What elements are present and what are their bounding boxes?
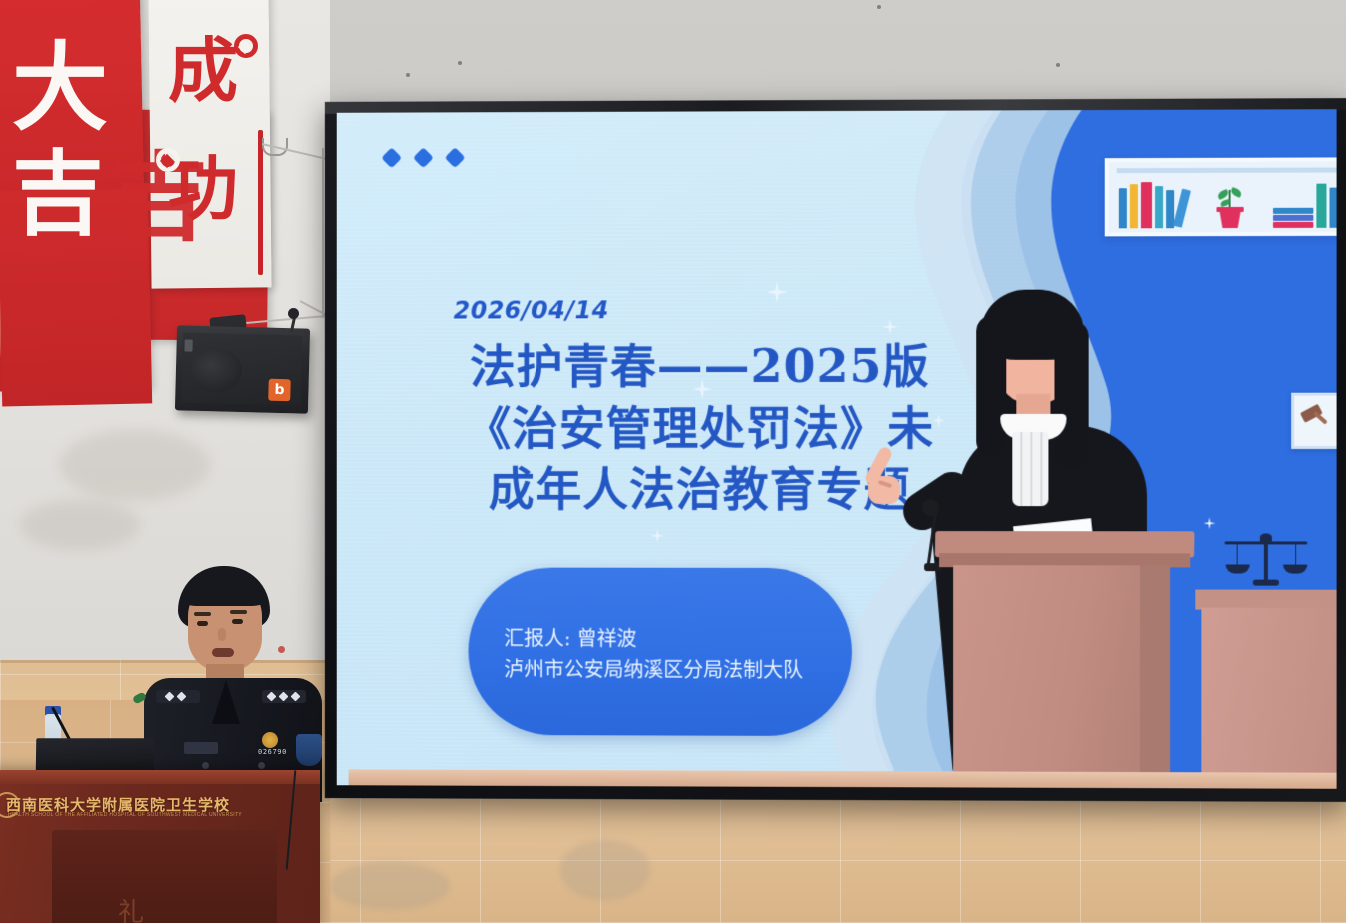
- speaker-knob-icon: [288, 308, 299, 319]
- lawyer-hair-side: [1054, 320, 1088, 470]
- scales-of-justice-icon: [1221, 531, 1312, 591]
- plant-leaf: [1230, 187, 1243, 198]
- speaker-led: [184, 339, 192, 351]
- book-icon-tilted: [1173, 189, 1191, 228]
- book-icon: [1273, 208, 1313, 214]
- potted-plant-icon: [1212, 182, 1246, 228]
- podium-body: [953, 565, 1168, 789]
- hand-fist: [868, 476, 900, 504]
- officer-hair-fringe: [182, 572, 266, 606]
- presenter-name-line: 汇报人: 曾祥波: [504, 623, 803, 655]
- illustration-floor: [349, 769, 1337, 788]
- officer-eyebrow: [230, 610, 247, 614]
- banner-char-cheng: 成: [168, 36, 238, 106]
- lectern-front-panel: [52, 830, 277, 923]
- wall-screw: [458, 61, 462, 65]
- slide-presenter-text: 汇报人: 曾祥波 泸州市公安局纳溪区分局法制大队: [504, 623, 803, 686]
- judge-bench: [1201, 608, 1336, 789]
- slide-date: 2026/04/14: [454, 296, 609, 324]
- illustration-bookshelf: [1105, 157, 1337, 236]
- book-icon: [1316, 184, 1326, 228]
- wall-speaker: b: [175, 325, 310, 413]
- ceiling-wire: [322, 148, 324, 318]
- scales-string: [1237, 544, 1238, 566]
- scales-pan: [1226, 564, 1250, 573]
- lectern-top-edge: [0, 770, 320, 784]
- wall-scuff: [560, 840, 650, 900]
- lawyer-hair-side: [976, 316, 1006, 456]
- stacked-books-icon: [1273, 206, 1313, 228]
- book-icon: [1141, 182, 1152, 228]
- officer-mouth: [212, 648, 234, 657]
- lectern-school-name-english: HEALTH SCHOOL OF THE AFFILIATED HOSPITAL…: [8, 812, 208, 818]
- display-screen[interactable]: 2026/04/14 法护青春——2025版 《治安管理处罚法》未 成年人法治教…: [337, 109, 1337, 789]
- book-icon: [1330, 188, 1337, 228]
- scales-string: [1295, 544, 1296, 566]
- officer-eye: [197, 621, 208, 626]
- presentation-slide: 2026/04/14 法护青春——2025版 《治安管理处罚法》未 成年人法治教…: [337, 109, 1337, 789]
- banner-char-ji: 吉: [12, 148, 104, 240]
- speaker-brand-logo: b: [268, 379, 291, 402]
- officer-nose: [218, 628, 226, 641]
- scales-post: [1264, 539, 1268, 581]
- presenter-org-line: 泸州市公安局纳溪区分局法制大队: [504, 654, 803, 686]
- shelf-board: [1117, 167, 1337, 173]
- slide-dot-icon: [413, 147, 434, 168]
- officer-eye: [232, 619, 243, 624]
- officer-badge-icon: [262, 732, 278, 748]
- scales-base: [1253, 580, 1279, 586]
- officer-shoulder-patch: [296, 734, 322, 766]
- lawyer-jabot: [1012, 432, 1048, 506]
- wall-screw: [877, 5, 881, 9]
- lectern-emblem: 礼: [118, 892, 144, 923]
- lawyer-pointing-hand: [866, 446, 922, 504]
- wall-scuff: [330, 862, 450, 910]
- officer-eyebrow: [194, 612, 211, 616]
- shelf-contents: [1119, 179, 1337, 228]
- presenter-officer: 026790: [140, 566, 325, 798]
- officer-badge-number: 026790: [258, 748, 287, 756]
- officer-button: [258, 762, 265, 769]
- banner-rail: [258, 130, 263, 275]
- display-screen-bezel: 2026/04/14 法护青春——2025版 《治安管理处罚法》未 成年人法治教…: [325, 98, 1346, 802]
- book-icon: [1119, 188, 1127, 228]
- book-icon: [1273, 222, 1313, 228]
- slide-dot-icon: [381, 147, 402, 168]
- podium-side: [1140, 565, 1170, 788]
- slide-dots-decoration: [384, 150, 462, 165]
- officer-button: [202, 762, 209, 769]
- scales-pan: [1283, 565, 1307, 574]
- plant-pot: [1220, 211, 1241, 228]
- banner-char-da: 大: [12, 40, 108, 136]
- illustration-podium: [949, 531, 1180, 789]
- officer-chest-bar: [184, 742, 218, 754]
- wall-smudge: [20, 500, 140, 550]
- book-icon: [1273, 215, 1313, 221]
- wall-screw: [1056, 63, 1060, 67]
- wall-screw: [406, 73, 410, 77]
- slide-presenter-pill: 汇报人: 曾祥波 泸州市公安局纳溪区分局法制大队: [468, 568, 852, 737]
- illustration-judge: [1326, 441, 1336, 602]
- book-icon: [1130, 184, 1138, 228]
- wall-smudge: [60, 430, 210, 500]
- book-icon: [1155, 186, 1163, 228]
- slide-dot-icon: [445, 147, 466, 168]
- photo-scene: ✦ 大 吉 吉 成 功 b: [0, 0, 1346, 923]
